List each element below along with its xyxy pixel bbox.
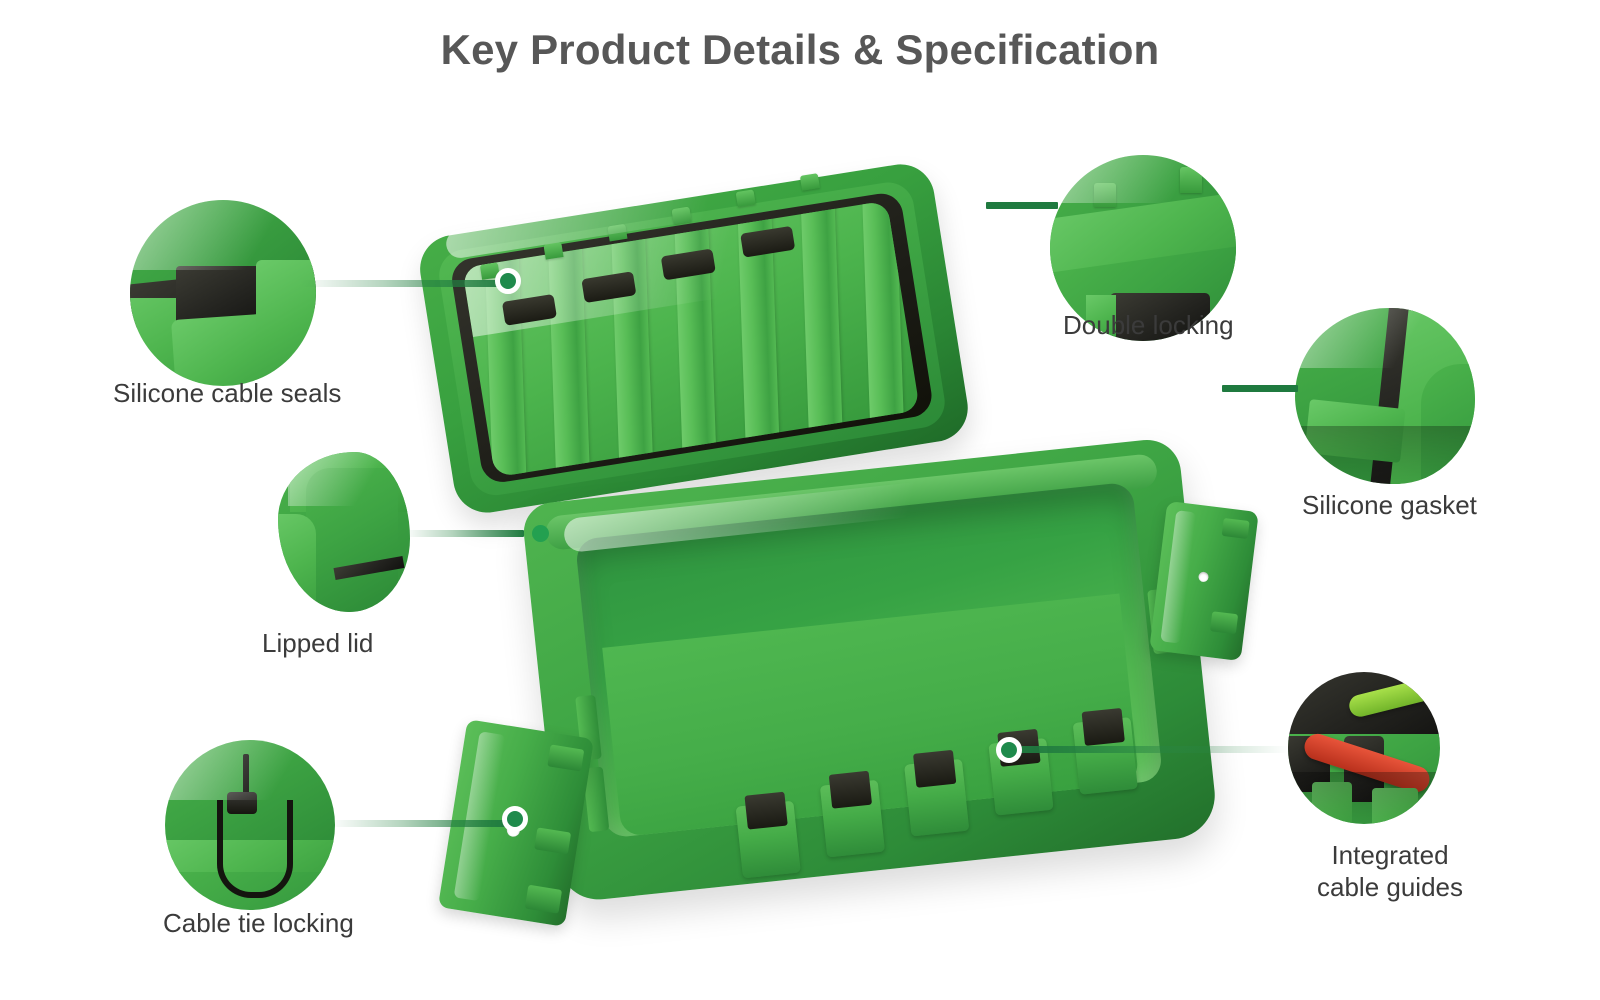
connector-integrated-cable-guides bbox=[1016, 746, 1288, 753]
anchor-cable-tie-locking bbox=[502, 806, 528, 832]
callout-label-double-locking: Double locking bbox=[1063, 310, 1323, 342]
callout-inset-lipped-lid bbox=[278, 452, 410, 612]
callout-label-silicone-gasket: Silicone gasket bbox=[1302, 490, 1562, 522]
callout-inset-silicone-cable-seals bbox=[130, 200, 316, 386]
anchor-integrated-cable-guides bbox=[996, 737, 1022, 763]
product-base-tub bbox=[540, 430, 1230, 900]
page-title: Key Product Details & Specification bbox=[0, 26, 1600, 74]
callout-label-lipped-lid: Lipped lid bbox=[262, 628, 502, 660]
anchor-lipped-lid bbox=[532, 525, 549, 542]
anchor-silicone-cable-seals bbox=[495, 268, 521, 294]
connector-silicone-cable-seals bbox=[300, 280, 510, 287]
callout-label-cable-tie-locking: Cable tie locking bbox=[163, 908, 463, 940]
connector-cable-tie-locking bbox=[330, 820, 510, 827]
diagram-canvas: Key Product Details & Specification bbox=[0, 0, 1600, 1000]
connector-lipped-lid bbox=[404, 530, 524, 537]
callout-inset-integrated-cable-guides bbox=[1288, 672, 1440, 824]
callout-label-integrated-cable-guides: Integrated cable guides bbox=[1280, 840, 1500, 903]
loose-side-rail-right bbox=[1149, 501, 1259, 661]
callout-inset-cable-tie-locking bbox=[165, 740, 335, 910]
callout-label-silicone-cable-seals: Silicone cable seals bbox=[113, 378, 413, 410]
connector-silicone-gasket bbox=[1222, 385, 1298, 392]
callout-inset-silicone-gasket bbox=[1295, 308, 1475, 484]
connector-double-locking bbox=[986, 202, 1058, 209]
